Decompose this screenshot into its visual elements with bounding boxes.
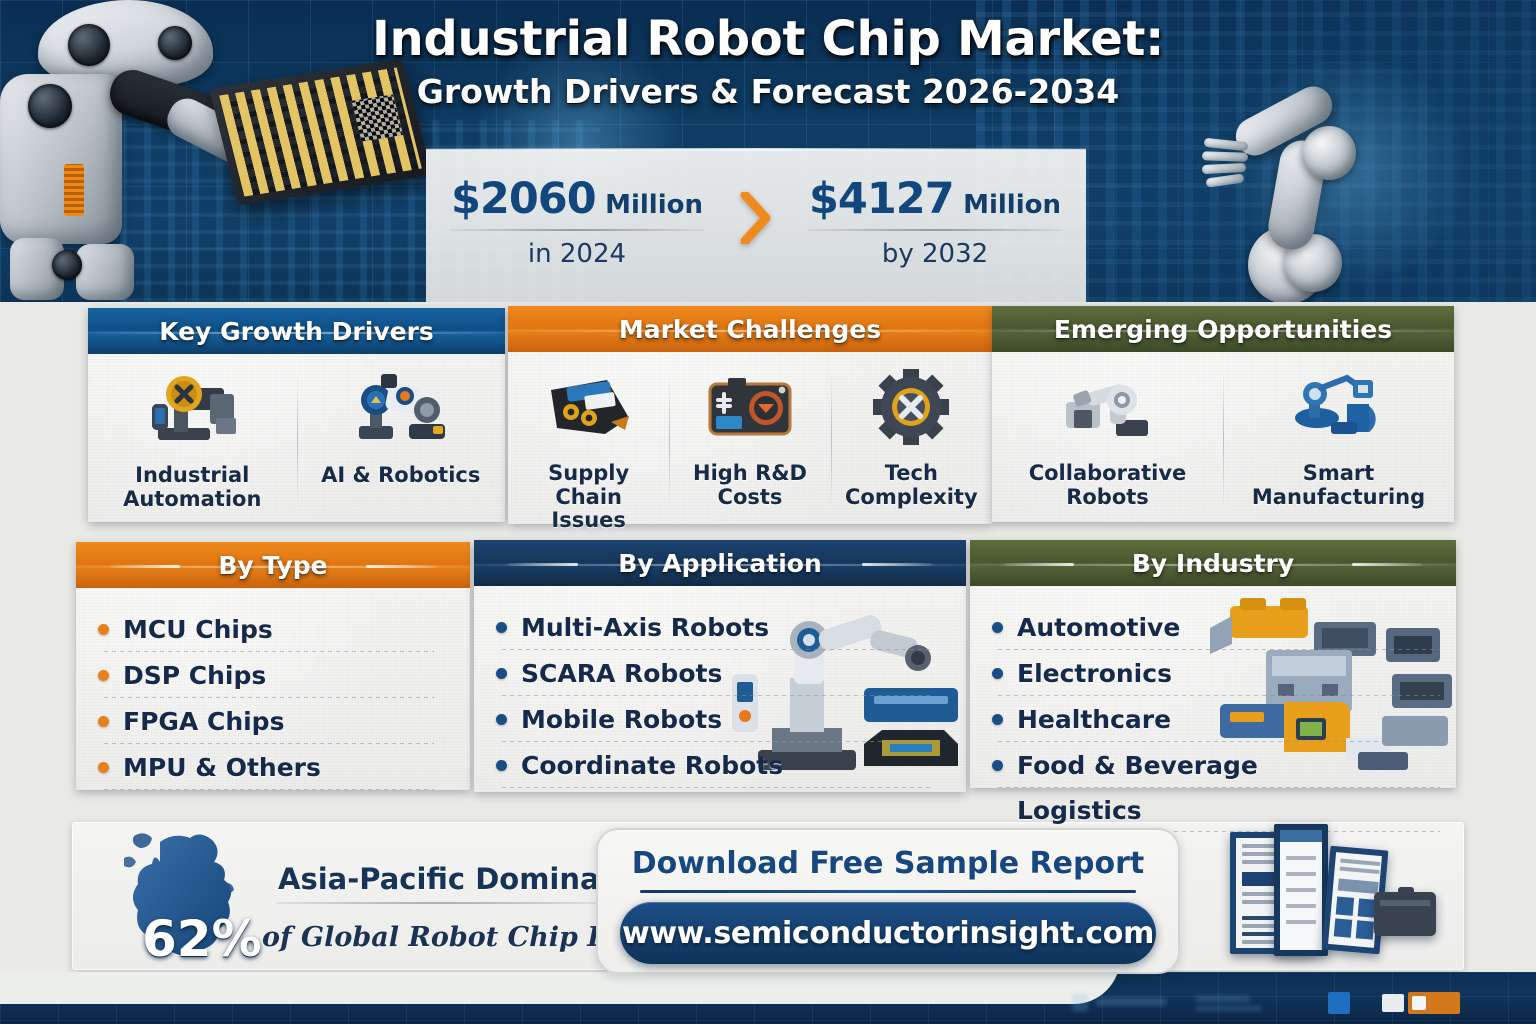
robot-arm-gear-icon bbox=[144, 370, 240, 448]
list-item[interactable]: Healthcare bbox=[992, 696, 1434, 742]
card-header-market-challenges: Market Challenges bbox=[508, 306, 992, 352]
card-header-key-growth-drivers: Key Growth Drivers bbox=[88, 308, 505, 354]
bullet-icon bbox=[992, 760, 1003, 771]
list-item[interactable]: Food & Beverage bbox=[992, 742, 1434, 788]
card-header-emerging-opportunities: Emerging Opportunities bbox=[992, 306, 1454, 352]
bullet-icon bbox=[496, 760, 507, 771]
stat-rule bbox=[450, 229, 704, 231]
card-title: Key Growth Drivers bbox=[159, 317, 434, 346]
list-item[interactable]: FPGA Chips bbox=[98, 698, 448, 744]
current-value: $2060 bbox=[451, 174, 596, 224]
list-item[interactable]: Electronics bbox=[992, 650, 1434, 696]
card-header-by-industry: By Industry bbox=[970, 540, 1456, 586]
list-item[interactable]: Mobile Robots bbox=[496, 696, 944, 742]
card-title: By Industry bbox=[1132, 549, 1294, 578]
gear-complexity-icon bbox=[863, 368, 959, 446]
by-industry-list: Automotive Electronics Healthcare Food &… bbox=[970, 586, 1456, 788]
bullet-icon bbox=[992, 622, 1003, 633]
feature-item-industrial-automation[interactable]: Industrial Automation bbox=[88, 354, 297, 522]
feature-item-collaborative-robots[interactable]: Collaborative Robots bbox=[992, 352, 1223, 522]
list-item[interactable]: Coordinate Robots bbox=[496, 742, 944, 788]
feature-label-line1: AI & Robotics bbox=[321, 463, 480, 487]
title-line-2: Growth Drivers & Forecast 2026-2034 bbox=[0, 72, 1536, 111]
forecast-year-label: by 2032 bbox=[784, 239, 1086, 269]
report-documents-icon bbox=[1178, 830, 1448, 970]
feature-item-ai-robotics[interactable]: AI & Robotics bbox=[297, 354, 506, 522]
stat-current-value: $2060 Million in 2024 bbox=[426, 166, 728, 269]
card-by-type: By Type MCU Chips DSP Chips FPGA Chips M… bbox=[76, 542, 470, 790]
list-item[interactable]: SCARA Robots bbox=[496, 650, 944, 696]
bullet-icon bbox=[992, 714, 1003, 725]
card-title: By Application bbox=[618, 549, 822, 578]
feature-label-line1: Smart Manufacturing bbox=[1252, 461, 1425, 509]
rnd-cost-icon bbox=[702, 368, 798, 446]
card-header-by-application: By Application bbox=[474, 540, 966, 586]
bullet-icon bbox=[98, 624, 109, 635]
bullet-icon bbox=[992, 668, 1003, 679]
feature-label-line2: Automation bbox=[123, 487, 261, 511]
list-item[interactable]: Logistics bbox=[992, 788, 1434, 832]
page-title: Industrial Robot Chip Market: Growth Dri… bbox=[0, 14, 1536, 111]
forecast-unit: Million bbox=[963, 190, 1061, 220]
feature-item-smart-manufacturing[interactable]: Smart Manufacturing bbox=[1223, 352, 1454, 522]
bottom-decorative-strip bbox=[0, 972, 1536, 1024]
forecast-value: $4127 bbox=[809, 174, 954, 224]
current-unit: Million bbox=[605, 190, 703, 220]
card-title: Market Challenges bbox=[619, 315, 881, 344]
by-application-list: Multi-Axis Robots SCARA Robots Mobile Ro… bbox=[474, 586, 966, 792]
card-header-by-type: By Type bbox=[76, 542, 470, 588]
bullet-icon bbox=[98, 716, 109, 727]
list-item[interactable]: MPU & Others bbox=[98, 744, 448, 790]
feature-label-line1: Tech bbox=[885, 461, 938, 485]
stat-rule bbox=[808, 229, 1062, 231]
current-year-label: in 2024 bbox=[426, 239, 728, 269]
feature-label-line2: Complexity bbox=[845, 485, 978, 509]
smart-factory-icon bbox=[1291, 368, 1387, 446]
card-by-industry: By Industry bbox=[970, 540, 1456, 788]
cobot-icon bbox=[1060, 368, 1156, 446]
card-emerging-opportunities: Emerging Opportunities bbox=[992, 306, 1454, 522]
ai-robot-icon bbox=[353, 370, 449, 448]
list-item[interactable]: Multi-Axis Robots bbox=[496, 604, 944, 650]
bullet-icon bbox=[496, 668, 507, 679]
bullet-icon bbox=[98, 762, 109, 773]
cta-title: Download Free Sample Report bbox=[598, 846, 1178, 881]
cta-rule bbox=[640, 890, 1136, 893]
bullet-icon bbox=[98, 670, 109, 681]
by-type-list: MCU Chips DSP Chips FPGA Chips MPU & Oth… bbox=[76, 588, 470, 790]
stat-forecast-value: $4127 Million by 2032 bbox=[784, 166, 1086, 269]
bullet-icon bbox=[496, 622, 507, 633]
card-market-challenges: Market Challenges Supply Chain Issue bbox=[508, 306, 992, 524]
list-item[interactable]: Automotive bbox=[992, 604, 1434, 650]
website-url-label: www.semiconductorinsight.com bbox=[622, 916, 1154, 951]
card-by-application: By Application bbox=[474, 540, 966, 792]
bullet-icon bbox=[496, 714, 507, 725]
feature-label-line2: Robots bbox=[1066, 485, 1149, 509]
feature-label-line2: Issues bbox=[551, 508, 626, 532]
feature-item-high-rnd-costs[interactable]: High R&D Costs bbox=[669, 352, 830, 524]
list-item[interactable]: MCU Chips bbox=[98, 606, 448, 652]
card-key-growth-drivers: Key Growth Drivers bbox=[88, 308, 505, 522]
chevron-right-icon bbox=[728, 166, 784, 244]
feature-label-line1: Collaborative bbox=[1029, 461, 1187, 485]
feature-label-line2: Costs bbox=[718, 485, 783, 509]
infographic-page: Industrial Robot Chip Market: Growth Dri… bbox=[0, 0, 1536, 1024]
card-title: By Type bbox=[218, 551, 327, 580]
market-value-stats: $2060 Million in 2024 $4127 Million by 2… bbox=[426, 166, 1086, 291]
region-dominance-block: Asia-Pacific Dominance 62% of Global Rob… bbox=[96, 832, 616, 962]
feature-item-supply-chain-issues[interactable]: Supply Chain Issues bbox=[508, 352, 669, 524]
card-title: Emerging Opportunities bbox=[1054, 315, 1392, 344]
feature-label-line1: Supply Chain bbox=[548, 461, 629, 509]
region-rule bbox=[276, 902, 601, 904]
cta-block: Download Free Sample Report www.semicond… bbox=[596, 828, 1180, 974]
supply-chain-icon bbox=[541, 368, 637, 446]
website-url-button[interactable]: www.semiconductorinsight.com bbox=[620, 902, 1156, 964]
title-line-1: Industrial Robot Chip Market: bbox=[0, 14, 1536, 66]
feature-item-tech-complexity[interactable]: Tech Complexity bbox=[831, 352, 992, 524]
list-item[interactable]: DSP Chips bbox=[98, 652, 448, 698]
feature-label-line1: Industrial bbox=[135, 463, 249, 487]
feature-label-line1: High R&D bbox=[693, 461, 807, 485]
region-percent: 62% bbox=[142, 910, 262, 968]
